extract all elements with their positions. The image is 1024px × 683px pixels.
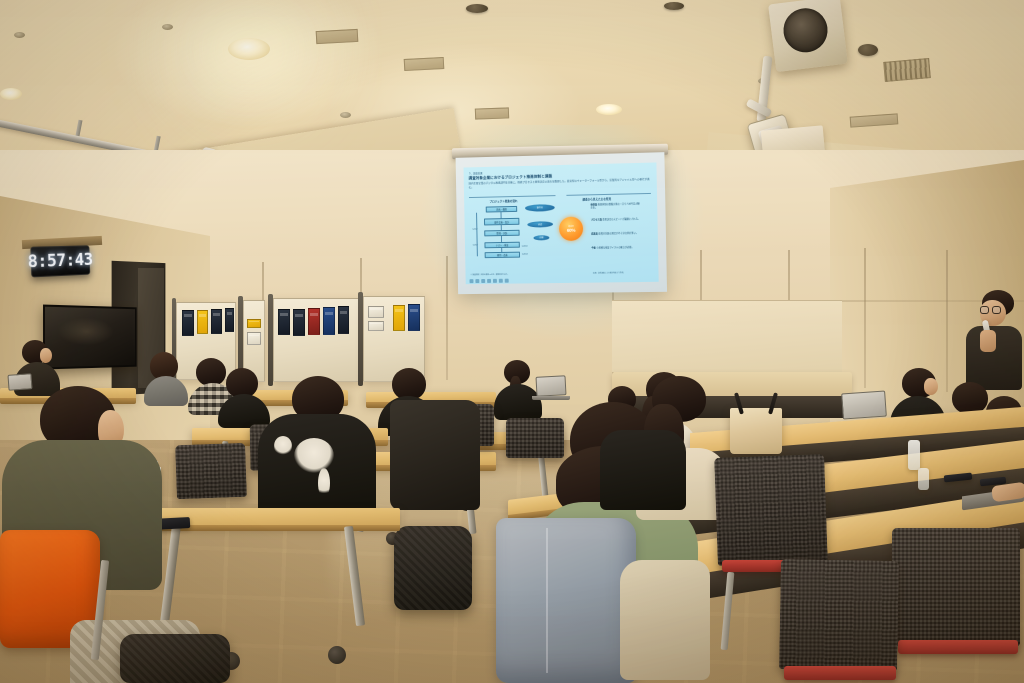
laptop [535,375,566,397]
finding-3-head: 成果面 [591,233,598,235]
projection-screen: プレゼンテーション 資料 スライド ビュー ３．調査結果 調査対象企業におけるプ… [456,152,667,294]
air-vent [404,57,445,71]
flow-arrow [501,225,502,230]
finding-2: プロセス面 意思決定のスピードが課題とされる。 [591,218,641,222]
pointer-icon[interactable] [470,279,474,283]
laptop [841,390,887,419]
eraser-icon[interactable] [487,278,491,282]
ceiling-speaker [768,0,848,72]
finding-1-text: 推進体制の整備が進む一方で人材不足が顕在化。 [591,203,640,209]
flow-node-3: 公開 [533,235,549,240]
smoke-detector [466,4,488,13]
tote-bag [730,408,782,454]
wall-cabinets [612,300,842,372]
flow-arrow [501,212,502,218]
sprinkler-head [340,112,351,118]
wall-panel-seam [446,256,448,380]
table-caster [328,646,346,664]
face [924,378,938,395]
sprinkler-head [162,24,173,30]
poster [293,309,305,336]
recessed-downlight [596,104,622,115]
poster [182,310,194,336]
flow-arrow [476,213,478,257]
poster [225,308,234,332]
finding-3-text: 投資対効果の測定が不十分な例が多い。 [598,233,638,236]
wall-panel-seam [864,248,866,388]
chair-jacket [600,430,686,510]
finding-1-head: 体制面 [591,204,598,206]
poster [197,310,208,334]
fullscreen-icon[interactable] [505,278,509,282]
flow-arrow [501,248,502,252]
sprinkler-head [14,32,25,38]
hoodie-print [294,438,334,474]
finding-4: 今後 小規模な検証サイクルの確立が必要。 [591,247,641,251]
wall-mounted-tv [43,305,137,370]
grid-icon[interactable] [499,278,503,282]
poster [368,306,384,318]
badge-caption: 達成率 [568,225,574,228]
draped-jacket [390,400,480,510]
poster [323,307,335,335]
dome-camera [858,44,878,56]
air-vent [316,29,359,44]
air-vent [475,107,509,119]
highlighter-icon[interactable] [481,278,485,282]
flow-node-2: 承認 [527,221,553,227]
poster [408,304,420,331]
water-bottle [908,440,920,470]
head [196,358,226,386]
flow-node-1: 案件化 [525,204,555,212]
backpack [394,526,472,610]
chair[interactable] [506,418,564,458]
clock-digits: 8:57:43 [27,250,92,272]
chair[interactable] [892,528,1020,646]
poster [368,321,384,331]
finding-2-text: 意思決定のスピードが課題とされる。 [602,218,640,221]
hoodie-print [318,468,330,498]
poster [247,332,261,345]
chair[interactable] [714,454,828,566]
lecture-hall-photo: プレゼンテーション 資料 スライド ビュー ３．調査結果 調査対象企業におけるプ… [0,0,1024,683]
result-badge: 達成率 60% [559,217,583,241]
draped-denim-jacket [496,518,636,683]
flow-step-5: 運用・改善 [485,252,520,259]
finding-4-head: 今後 [591,247,595,249]
badge-value: 60% [567,228,576,233]
chair-seat[interactable] [898,640,1018,654]
poster [211,309,222,334]
digital-clock: 8:57:43 [30,245,90,277]
backpack [120,634,230,683]
laptop-base [532,396,570,400]
poster [308,308,320,335]
pen-icon[interactable] [475,279,479,283]
finding-3: 成果面 投資対効果の測定が不十分な例が多い。 [591,233,641,237]
tote-bag-floor [620,560,710,680]
slide-presenter-toolbar[interactable] [470,278,509,282]
poster [278,309,290,335]
glasses-icon [980,306,1002,314]
chair[interactable] [175,443,247,499]
poster [338,306,349,334]
recessed-downlight [0,88,22,100]
hoodie-print [274,436,292,456]
face [40,348,52,363]
wall-panel-seam [946,250,948,392]
presentation-slide: プレゼンテーション 資料 スライド ビュー ３．調査結果 調査対象企業におけるプ… [464,162,659,284]
flow-arrow [501,236,502,242]
finding-2-head: プロセス面 [591,219,602,221]
recessed-downlight [228,38,270,60]
slide-footnote-right: 出典：自社調査による集計結果より作成。 [593,271,654,274]
smoke-detector [664,2,684,10]
air-vent [883,58,931,82]
finding-1: 体制面 推進体制の整備が進む一方で人材不足が顕在化。 [591,203,641,211]
chair[interactable] [779,559,899,671]
poster [247,319,261,328]
finding-4-text: 小規模な検証サイクルの確立が必要。 [596,247,633,250]
slide-nav-icon[interactable] [493,278,497,282]
slide-left-column-title: プロジェクト推進の流れ [489,198,517,203]
slide-footnote-left: ※ 調査期間：回答企業数 n=128、複数回答を含む。 [470,273,559,277]
slide-right-column-title: 調査から見えた主な所見 [582,196,611,201]
chair-seat[interactable] [784,666,896,680]
presenter-hand [980,330,996,352]
water-bottle [918,468,929,490]
poster [393,305,405,331]
laptop [7,373,32,391]
